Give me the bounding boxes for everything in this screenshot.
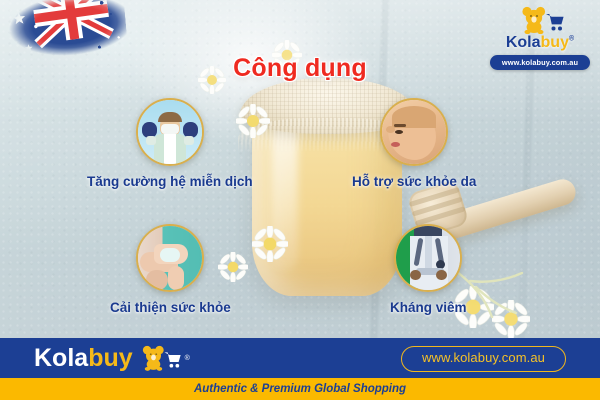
brand-logo-footer[interactable]: Kolabuy xyxy=(34,342,190,375)
brand-logo-top[interactable]: Kolabuy® www.kolabuy.com.au xyxy=(486,4,594,70)
koala-cart-icon xyxy=(516,4,564,34)
benefit-label: Kháng viêm xyxy=(390,300,467,315)
benefit-item-anti-inflammatory[interactable]: Kháng viêm xyxy=(390,224,467,315)
brand-url-pill-top[interactable]: www.kolabuy.com.au xyxy=(490,55,590,70)
footer-wordmark: Kolabuy xyxy=(34,346,133,371)
benefit-label: Hỗ trợ sức khỏe da xyxy=(352,174,476,189)
woman-face-profile-photo xyxy=(380,98,448,166)
footer: Kolabuy xyxy=(0,338,600,400)
footer-brand-part1: Kola xyxy=(34,344,88,372)
footer-blue-bar: Kolabuy xyxy=(0,338,600,378)
koala-cart-icon xyxy=(137,343,181,376)
benefit-label: Cải thiện sức khỏe xyxy=(110,300,231,315)
hands-holding-photo xyxy=(136,224,204,292)
trademark-symbol: ® xyxy=(185,355,190,362)
footer-tagline: Authentic & Premium Global Shopping xyxy=(0,378,600,400)
person-boxing-gloves-mask-photo xyxy=(136,98,204,166)
promo-banner: Công dụng xyxy=(0,0,600,400)
benefit-item-skin[interactable]: Hỗ trợ sức khỏe da xyxy=(352,98,476,189)
brand-name-part2: buy xyxy=(541,34,569,51)
footer-brand-part2: buy xyxy=(88,344,132,372)
brand-name-part1: Kola xyxy=(506,34,541,51)
footer-url-button[interactable]: www.kolabuy.com.au xyxy=(401,346,566,372)
brand-wordmark: Kolabuy® xyxy=(486,35,594,51)
doctor-stethoscope-photo xyxy=(394,224,462,292)
benefit-item-immune[interactable]: Tăng cường hệ miễn dịch xyxy=(87,98,253,189)
benefit-label: Tăng cường hệ miễn dịch xyxy=(87,174,253,189)
trademark-symbol: ® xyxy=(569,36,574,43)
benefit-item-health[interactable]: Cải thiện sức khỏe xyxy=(110,224,231,315)
